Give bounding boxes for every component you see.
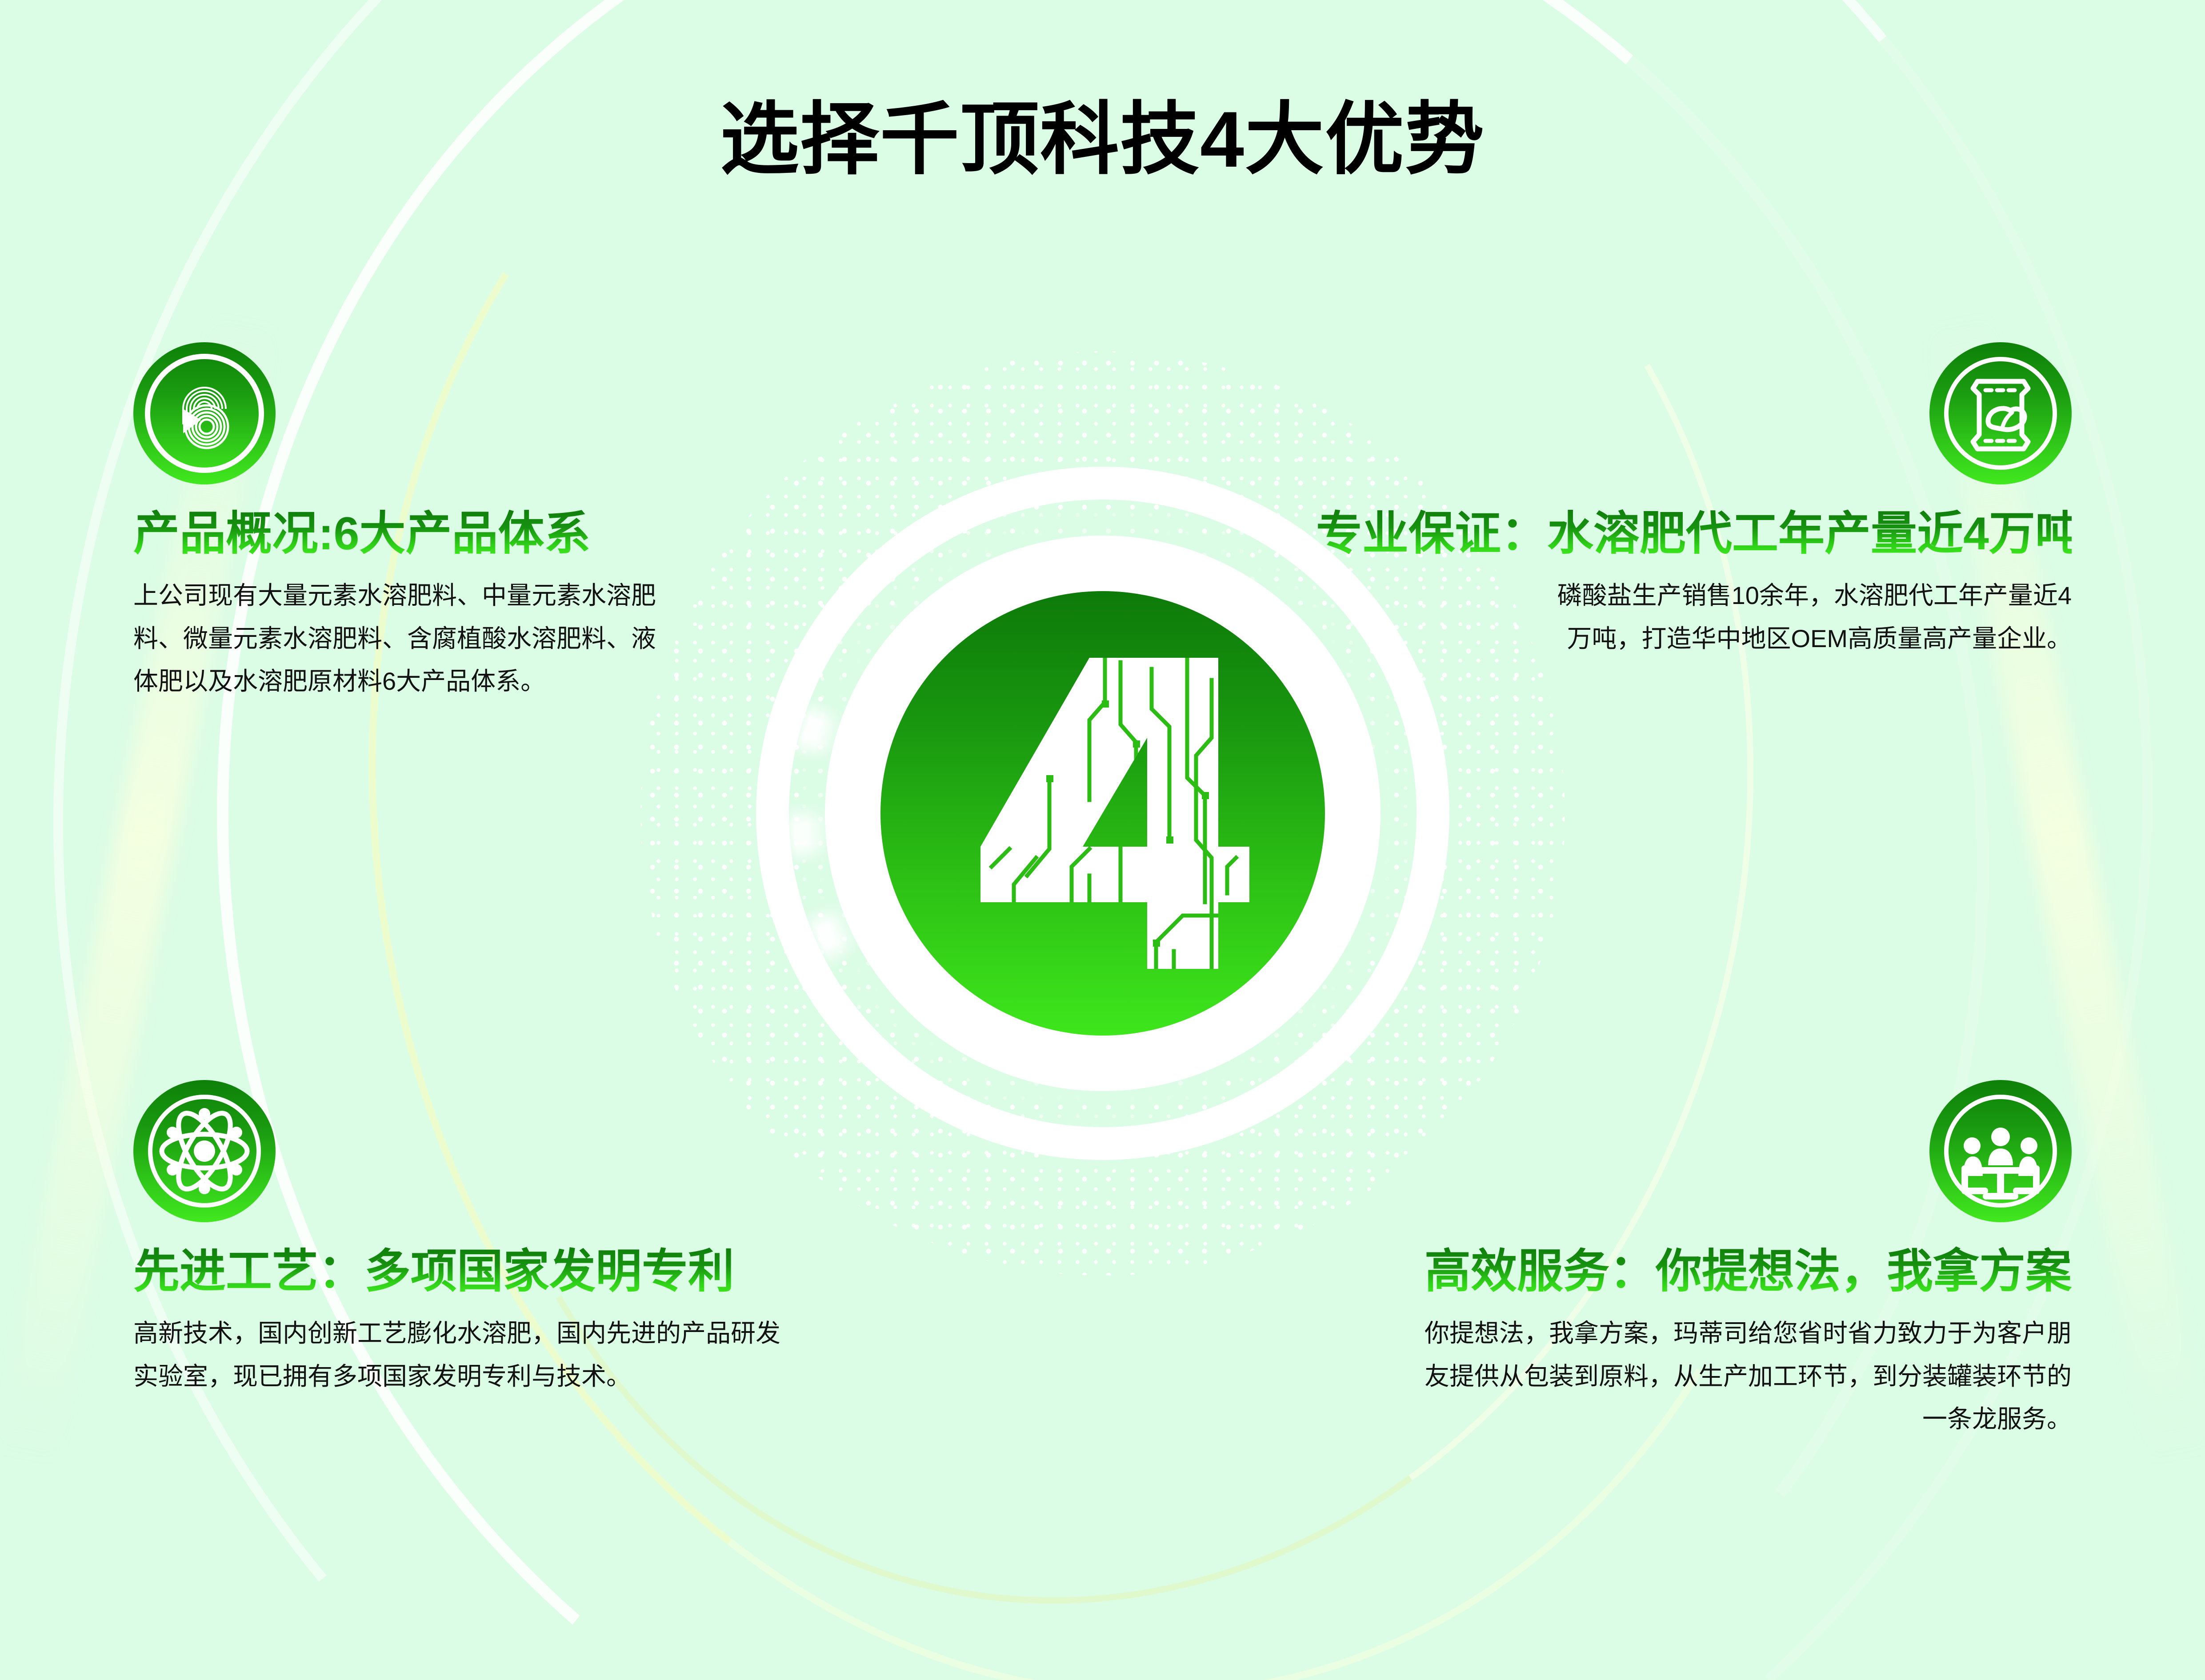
card-professional-guarantee[interactable]: 专业保证：水溶肥代工年产量近4万吨 磷酸盐生产销售10余年，水溶肥代工年产量近4…: [1316, 342, 2072, 660]
card-heading-product-overview: 产品概况:6大产品体系: [133, 508, 693, 559]
infographic-canvas: 选择千顶科技4大优势: [0, 0, 2205, 1680]
card-body-efficient-service: 你提想法，我拿方案，玛蒂司给您省时省力致力于为客户朋友提供从包装到原料，从生产加…: [1401, 1312, 2072, 1440]
page-title: 选择千顶科技4大优势: [0, 100, 2205, 179]
card-body-advanced-process: 高新技术，国内创新工艺膨化水溶肥，国内先进的产品研发实验室，现已拥有多项国家发明…: [133, 1312, 804, 1398]
badge-professional-guarantee: [1929, 342, 2072, 484]
center-green-disc: [880, 591, 1325, 1036]
number-six-spiral-icon: [133, 342, 276, 484]
card-heading-advanced-process: 先进工艺：多项国家发明专利: [133, 1246, 889, 1297]
atom-icon: [133, 1080, 276, 1222]
card-heading-professional-guarantee: 专业保证：水溶肥代工年产量近4万吨: [1316, 508, 2072, 559]
badge-advanced-process: [133, 1080, 276, 1222]
card-efficient-service[interactable]: 高效服务：你提想法，我拿方案 你提想法，我拿方案，玛蒂司给您省时省力致力于为客户…: [1316, 1080, 2072, 1440]
card-advanced-process[interactable]: 先进工艺：多项国家发明专利 高新技术，国内创新工艺膨化水溶肥，国内先进的产品研发…: [133, 1080, 889, 1398]
card-product-overview[interactable]: 产品概况:6大产品体系 上公司现有大量元素水溶肥料、中量元素水溶肥料、微量元素水…: [133, 342, 693, 703]
card-body-product-overview: 上公司现有大量元素水溶肥料、中量元素水溶肥料、微量元素水溶肥料、含腐植酸水溶肥料…: [133, 574, 662, 703]
badge-product-overview: [133, 342, 276, 484]
card-body-professional-guarantee: 磷酸盐生产销售10余年，水溶肥代工年产量近4万吨，打造华中地区OEM高质量高产量…: [1556, 574, 2072, 660]
meeting-team-icon: [1929, 1080, 2072, 1222]
fertilizer-bag-icon: [1929, 342, 2072, 484]
center-number-four-icon: [880, 591, 1325, 1036]
badge-efficient-service: [1929, 1080, 2072, 1222]
card-heading-efficient-service: 高效服务：你提想法，我拿方案: [1316, 1246, 2072, 1297]
